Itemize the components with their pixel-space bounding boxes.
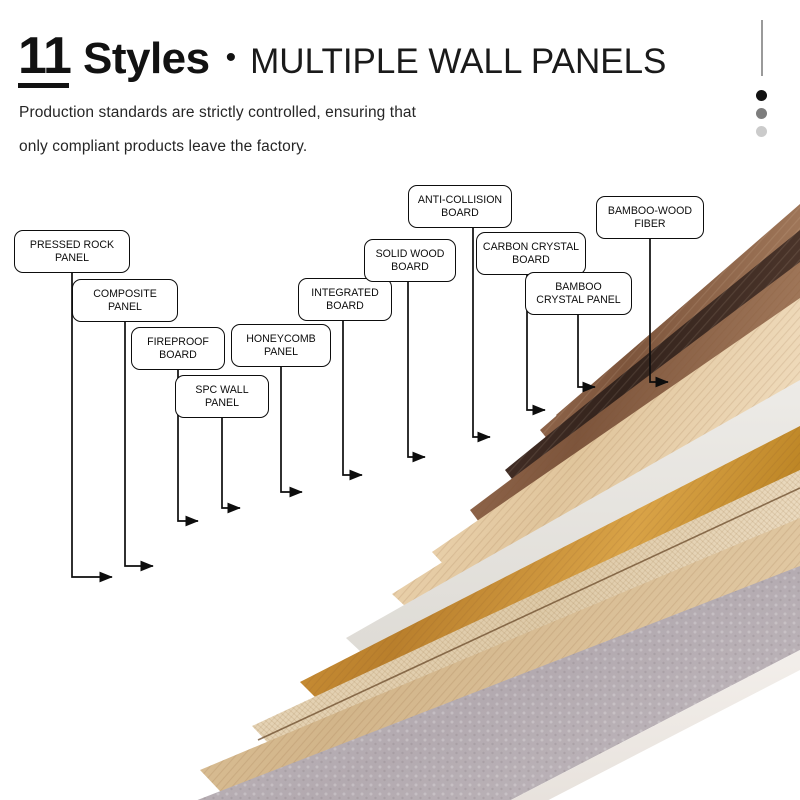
callout-carbon-crystal-board[interactable]: CARBON CRYSTAL BOARD xyxy=(476,232,586,275)
style-count-underline xyxy=(18,83,69,88)
callout-anti-collision-board[interactable]: ANTI-COLLISION BOARD xyxy=(408,185,512,228)
headline: MULTIPLE WALL PANELS xyxy=(250,44,666,79)
rail-line xyxy=(761,20,763,76)
rail-dot-2[interactable] xyxy=(756,108,767,119)
header: 11 Styles • MULTIPLE WALL PANELS Product… xyxy=(0,0,800,180)
poster-root: 11 Styles • MULTIPLE WALL PANELS Product… xyxy=(0,0,800,800)
callout-solid-wood-board[interactable]: SOLID WOOD BOARD xyxy=(364,239,456,282)
bullet-separator-icon: • xyxy=(226,43,237,73)
page-title: 11 Styles • MULTIPLE WALL PANELS xyxy=(18,30,666,88)
callout-integrated-board[interactable]: INTEGRATED BOARD xyxy=(298,278,392,321)
callout-pressed-rock-panel[interactable]: PRESSED ROCK PANEL xyxy=(14,230,130,273)
callout-bamboo-wood-fiber[interactable]: BAMBOO-WOOD FIBER xyxy=(596,196,704,239)
style-count: 11 xyxy=(18,27,71,85)
callout-fireproof-board[interactable]: FIREPROOF BOARD xyxy=(131,327,225,370)
styles-word: Styles xyxy=(83,37,210,81)
callout-composite-panel[interactable]: COMPOSITE PANEL xyxy=(72,279,178,322)
callout-honeycomb-panel[interactable]: HONEYCOMB PANEL xyxy=(231,324,331,367)
side-rail xyxy=(752,20,772,140)
callout-bamboo-crystal-panel[interactable]: BAMBOO CRYSTAL PANEL xyxy=(525,272,632,315)
style-count-wrap: 11 xyxy=(18,30,71,88)
lead-text-line-2: only compliant products leave the factor… xyxy=(19,138,307,156)
rail-dot-3[interactable] xyxy=(756,126,767,137)
callout-spc-wall-panel[interactable]: SPC WALL PANEL xyxy=(175,375,269,418)
rail-dot-active[interactable] xyxy=(756,90,767,101)
lead-text-line-1: Production standards are strictly contro… xyxy=(19,104,416,122)
